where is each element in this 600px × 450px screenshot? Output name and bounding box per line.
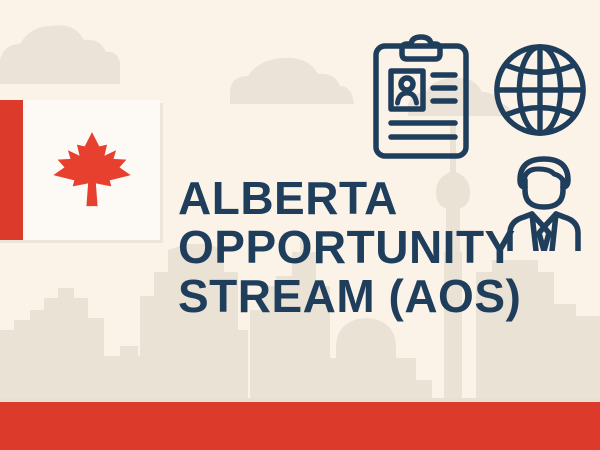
poster-canvas: ALBERTA OPPORTUNITY STREAM (AOS) <box>0 0 600 450</box>
globe-icon <box>491 41 589 139</box>
flag-left-red-band <box>0 100 23 240</box>
canadian-flag <box>0 100 160 240</box>
maple-leaf-icon <box>49 127 135 213</box>
title-line-2: OPPORTUNITY <box>178 223 578 272</box>
flag-white-field <box>23 100 160 240</box>
clipboard-id-icon <box>371 33 471 161</box>
bottom-accent-band <box>0 402 600 450</box>
poster-title: ALBERTA OPPORTUNITY STREAM (AOS) <box>178 174 578 321</box>
title-line-1: ALBERTA <box>178 174 578 223</box>
title-line-3: STREAM (AOS) <box>178 272 578 321</box>
